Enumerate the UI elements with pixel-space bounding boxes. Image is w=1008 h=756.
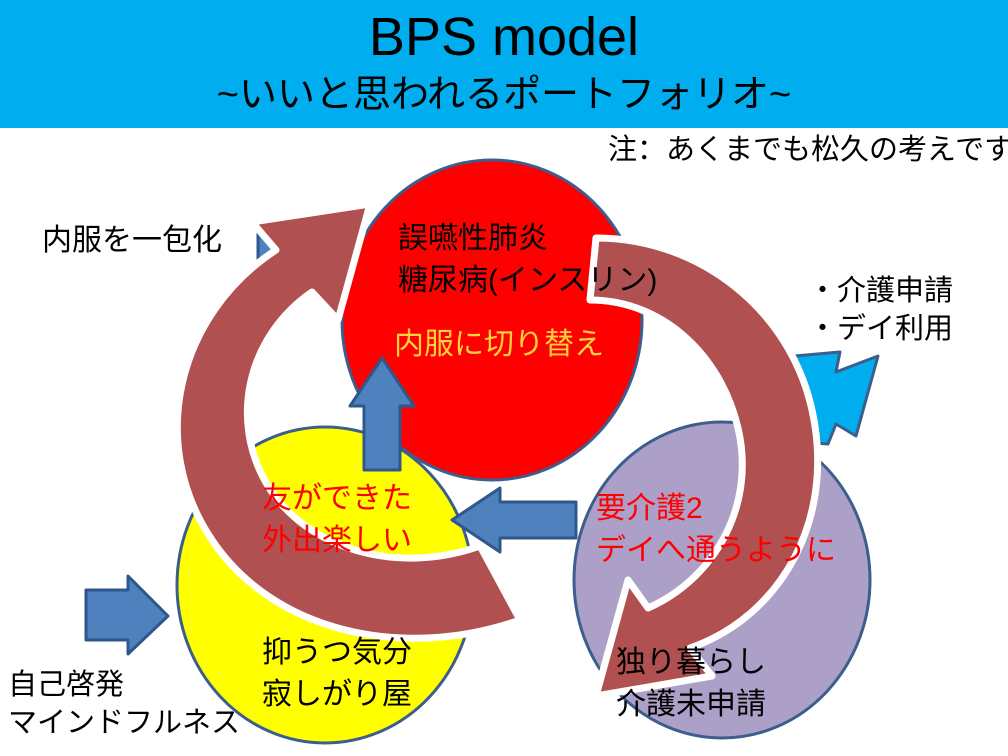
social-positive-text: 要介護2 デイへ通うように xyxy=(596,488,836,572)
bio-symptom-line2: 糖尿病(インスリン) xyxy=(398,260,657,302)
social-status-line1: 独り暮らし xyxy=(616,642,766,684)
label-medication-packaging: 内服を一包化 xyxy=(42,222,222,260)
blue-arrow-selfcare xyxy=(86,576,168,654)
social-status-text: 独り暮らし 介護未申請 xyxy=(616,642,766,726)
label-self-development-line1: 自己啓発 xyxy=(8,666,240,704)
psycho-positive-text: 友ができた 外出楽しい xyxy=(262,478,412,562)
bio-highlight-text: 内服に切り替え xyxy=(394,324,604,366)
psycho-symptom-line1: 抑うつ気分 xyxy=(262,632,412,674)
label-care-services-line2: ・デイ利用 xyxy=(808,310,953,348)
psycho-positive-line1: 友ができた xyxy=(262,478,412,520)
psycho-symptom-text: 抑うつ気分 寂しがり屋 xyxy=(262,632,412,716)
blue-arrow-social-to-psycho xyxy=(452,488,576,552)
psycho-positive-line2: 外出楽しい xyxy=(262,520,412,562)
label-self-development-line2: マインドフルネス xyxy=(8,704,240,742)
label-care-services: ・介護申請 ・デイ利用 xyxy=(808,272,953,348)
slide-canvas: BPS model ~いいと思われるポートフォリオ~ xyxy=(0,0,1008,756)
bps-cycle-diagram xyxy=(0,0,1008,756)
label-self-development: 自己啓発 マインドフルネス xyxy=(8,666,240,742)
social-positive-line1: 要介護2 xyxy=(596,488,836,530)
bio-symptom-line1: 誤嚥性肺炎 xyxy=(398,218,657,260)
disclaimer-note: 注：あくまでも松久の考えです xyxy=(608,132,1008,168)
bio-symptom-text: 誤嚥性肺炎 糖尿病(インスリン) xyxy=(398,218,657,302)
label-care-services-line1: ・介護申請 xyxy=(808,272,953,310)
social-status-line2: 介護未申請 xyxy=(616,684,766,726)
social-positive-line2: デイへ通うように xyxy=(596,530,836,572)
psycho-symptom-line2: 寂しがり屋 xyxy=(262,674,412,716)
